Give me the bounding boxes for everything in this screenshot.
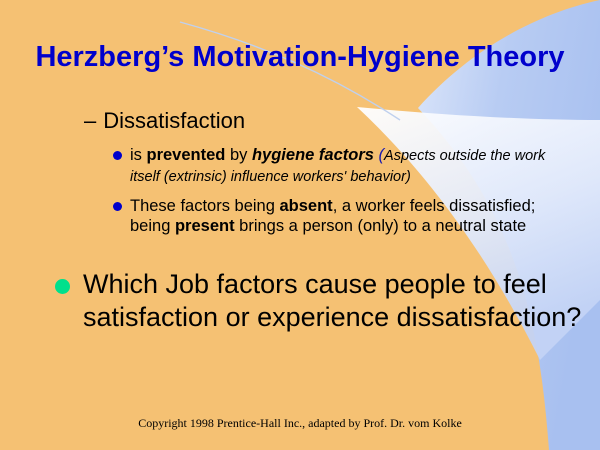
bullet-text: These factors being absent, a worker fee…: [130, 196, 565, 236]
slide-content: Herzberg’s Motivation-Hygiene Theory –Di…: [0, 0, 600, 450]
slide-canvas: Herzberg’s Motivation-Hygiene Theory –Di…: [0, 0, 600, 450]
run-normal: brings a person (only) to a neutral stat…: [235, 217, 527, 235]
run-bold: present: [175, 217, 235, 235]
bullet-dot-icon: [113, 151, 122, 160]
list-item: is prevented by hygiene factors (Aspects…: [113, 145, 565, 187]
question-block: Which Job factors cause people to feel s…: [55, 268, 585, 334]
run-bold-italic: hygiene factors: [252, 146, 374, 164]
bullet-text: is prevented by hygiene factors (Aspects…: [130, 145, 565, 187]
dash-marker-icon: –: [84, 108, 96, 134]
bullet-dot-icon: [113, 202, 122, 211]
run-normal: These factors being: [130, 197, 280, 215]
question-text: Which Job factors cause people to feel s…: [83, 268, 585, 334]
footer-copyright: Copyright 1998 Prentice-Hall Inc., adapt…: [0, 416, 600, 431]
run-bold: prevented: [147, 146, 226, 164]
outline-level1-label: Dissatisfaction: [103, 108, 245, 133]
bullet-dot-icon: [55, 279, 70, 294]
page-title: Herzberg’s Motivation-Hygiene Theory: [0, 41, 600, 74]
run-normal: by: [225, 146, 252, 164]
run-paren: (: [374, 146, 384, 164]
run-bold: absent: [280, 197, 333, 215]
outline-level1-dissatisfaction: –Dissatisfaction: [84, 108, 245, 134]
list-item: These factors being absent, a worker fee…: [113, 196, 565, 236]
run-normal: is: [130, 146, 147, 164]
